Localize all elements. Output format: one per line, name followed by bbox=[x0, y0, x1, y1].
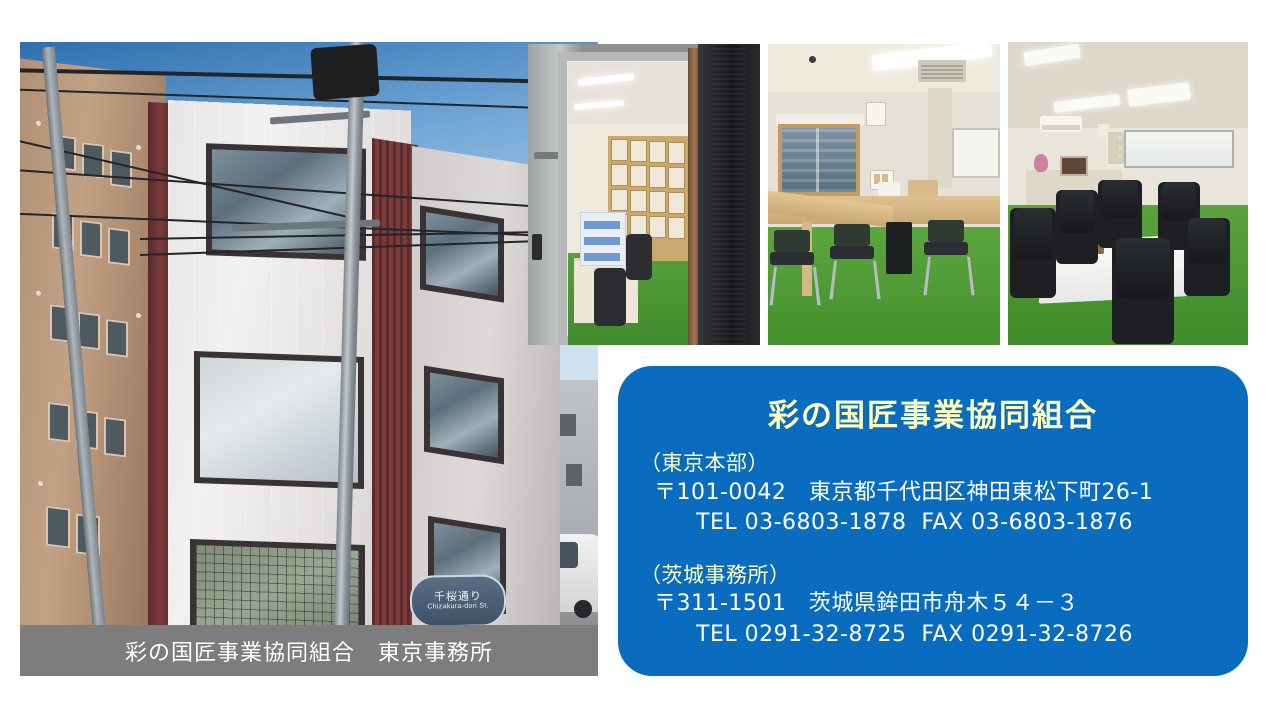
wall-board bbox=[952, 128, 1000, 178]
caption-text: 彩の国匠事業協同組合 東京事務所 bbox=[125, 635, 493, 667]
roller-blind bbox=[928, 88, 952, 188]
air-conditioner bbox=[1040, 116, 1082, 132]
slide-canvas: 千桜通り Chizakura-dori St. 彩の国匠事業協同組合 東京事務所 bbox=[0, 0, 1280, 720]
office-chair bbox=[594, 268, 626, 326]
window-right-middle bbox=[424, 366, 504, 465]
shredder bbox=[886, 222, 912, 274]
office-chair bbox=[1010, 208, 1056, 298]
office-boardroom-photo[interactable] bbox=[1008, 42, 1248, 345]
window bbox=[778, 124, 860, 196]
office-chair bbox=[1112, 238, 1174, 344]
contact-info-panel: 彩の国匠事業協同組合 （東京本部） 〒101-0042 東京都千代田区神田東松下… bbox=[618, 366, 1248, 676]
office-block-ibaraki: （茨城事務所） 〒311-1501 茨城県鉾田市舟木５４－３ TEL 0291-… bbox=[618, 561, 1248, 651]
building-exterior-photo[interactable]: 千桜通り Chizakura-dori St. bbox=[20, 42, 598, 625]
office-tel-fax-line: TEL 03-6803-1878 FAX 03-6803-1876 bbox=[640, 508, 1248, 539]
supply-boxes bbox=[580, 212, 626, 266]
office-chair bbox=[1184, 218, 1230, 296]
transformer-box bbox=[310, 44, 379, 100]
entrance-door-panel bbox=[698, 44, 760, 345]
office-tel-fax-line: TEL 0291-32-8725 FAX 0291-32-8726 bbox=[640, 620, 1248, 651]
whiteboard bbox=[1124, 130, 1234, 168]
office-address-line: 〒311-1501 茨城県鉾田市舟木５４－３ bbox=[640, 589, 1248, 620]
office-block-tokyo: （東京本部） 〒101-0042 東京都千代田区神田東松下町26-1 TEL 0… bbox=[618, 449, 1248, 539]
exterior-photo-caption-bar: 彩の国匠事業協同組合 東京事務所 bbox=[20, 625, 598, 676]
office-address-line: 〒101-0042 東京都千代田区神田東松下町26-1 bbox=[640, 478, 1248, 509]
folding-chair bbox=[924, 220, 968, 294]
window-right-upper bbox=[420, 205, 504, 302]
exterior-scene: 千桜通り Chizakura-dori St. bbox=[20, 42, 598, 625]
desk-phone bbox=[878, 182, 900, 196]
flower-vase bbox=[1034, 154, 1048, 172]
picture-frame bbox=[1060, 156, 1088, 176]
organization-name-title: 彩の国匠事業協同組合 bbox=[618, 398, 1248, 435]
office-name-label: （茨城事務所） bbox=[640, 561, 1248, 589]
entrance-scene bbox=[528, 44, 760, 345]
office-chair bbox=[1056, 190, 1098, 264]
office-entrance-photo[interactable] bbox=[528, 44, 760, 345]
folding-chair bbox=[770, 230, 814, 304]
folding-chair bbox=[830, 224, 874, 298]
office-chair bbox=[626, 234, 652, 280]
document-tray bbox=[908, 180, 938, 196]
inner-room bbox=[568, 62, 688, 345]
office-scene bbox=[1008, 42, 1248, 345]
street-sign-jp-label: 千桜通り bbox=[434, 590, 482, 603]
street-sign-en-label: Chizakura-dori St. bbox=[427, 602, 489, 611]
ceiling bbox=[568, 62, 688, 124]
air-vent bbox=[918, 60, 966, 82]
street-name-sign: 千桜通り Chizakura-dori St. bbox=[410, 574, 507, 625]
security-camera-icon bbox=[802, 52, 822, 64]
counter-scene bbox=[768, 44, 1000, 345]
office-name-label: （東京本部） bbox=[640, 449, 1248, 477]
wall-panel bbox=[866, 102, 886, 126]
meeting-counter-photo[interactable] bbox=[768, 44, 1000, 345]
door-lock-icon bbox=[532, 234, 542, 260]
